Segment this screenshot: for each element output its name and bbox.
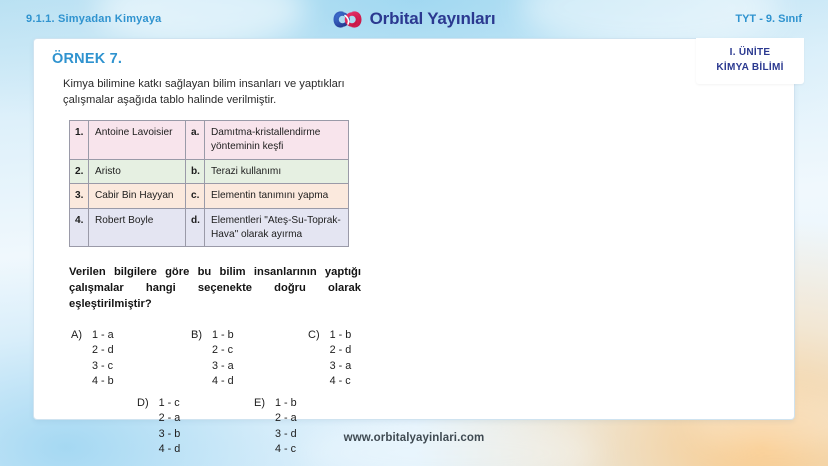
footer-website[interactable]: www.orbitalyayinlari.com	[0, 432, 828, 444]
answer-option-b-key: B)	[191, 328, 202, 344]
answer-option-e-pairs: 1 - b 2 - a 3 - d 4 - c	[275, 396, 297, 457]
table-cell-work: Terazi kullanımı	[205, 159, 349, 184]
answer-option-d-key: D)	[137, 396, 149, 412]
answer-option-e[interactable]: E) 1 - b 2 - a 3 - d 4 - c	[254, 396, 297, 457]
table-cell-number: 3.	[70, 184, 89, 209]
table-cell-work: Damıtma-kristallendirme yönteminin keşfi	[205, 121, 349, 159]
table-row: 3. Cabir Bin Hayyan c. Elementin tanımın…	[70, 184, 349, 209]
table-cell-name: Antoine Lavoisier	[89, 121, 186, 159]
table-cell-name: Robert Boyle	[89, 208, 186, 246]
table-cell-work: Elementleri "Ateş-Su-Toprak-Hava" olarak…	[205, 208, 349, 246]
page-header: 9.1.1. Simyadan Kimyaya	[0, 0, 828, 38]
table-row: 4. Robert Boyle d. Elementleri "Ateş-Su-…	[70, 208, 349, 246]
table-cell-name: Cabir Bin Hayyan	[89, 184, 186, 209]
answer-option-d[interactable]: D) 1 - c 2 - a 3 - b 4 - d	[137, 396, 180, 457]
brand-name: Orbital Yayınları	[370, 9, 496, 29]
orbital-loops-logo-icon	[333, 9, 363, 30]
answer-option-b[interactable]: B) 1 - b 2 - c 3 - a 4 - d	[191, 328, 234, 389]
table-cell-work: Elementin tanımını yapma	[205, 184, 349, 209]
answer-option-c[interactable]: C) 1 - b 2 - d 3 - a 4 - c	[308, 328, 351, 389]
table-cell-letter: d.	[186, 208, 205, 246]
question-text: Verilen bilgilere göre bu bilim insanlar…	[69, 265, 361, 313]
answer-option-c-key: C)	[308, 328, 320, 344]
header-level-label: TYT - 9. Sınıf	[735, 13, 802, 25]
answer-option-b-pairs: 1 - b 2 - c 3 - a 4 - d	[212, 328, 234, 389]
header-topic-label: 9.1.1. Simyadan Kimyaya	[26, 13, 161, 25]
matching-table: 1. Antoine Lavoisier a. Damıtma-kristall…	[69, 120, 349, 247]
answer-options-row-top: A) 1 - a 2 - d 3 - c 4 - b B) 1 - b 2 - …	[69, 328, 776, 386]
answer-option-a-pairs: 1 - a 2 - d 3 - c 4 - b	[92, 328, 114, 389]
slide-page: 9.1.1. Simyadan Kimyaya	[0, 0, 828, 466]
answer-options-row-bottom: D) 1 - c 2 - a 3 - b 4 - d E) 1 - b 2 - …	[69, 396, 776, 454]
table-cell-number: 2.	[70, 159, 89, 184]
example-intro-text: Kimya bilimine katkı sağlayan bilim insa…	[63, 76, 363, 108]
answer-option-d-pairs: 1 - c 2 - a 3 - b 4 - d	[159, 396, 181, 457]
unit-badge-line-1: I. ÜNİTE	[702, 46, 798, 61]
content-card: ÖRNEK 7. Kimya bilimine katkı sağlayan b…	[33, 38, 795, 420]
table-cell-letter: a.	[186, 121, 205, 159]
answer-option-c-pairs: 1 - b 2 - d 3 - a 4 - c	[330, 328, 352, 389]
example-title: ÖRNEK 7.	[52, 51, 776, 67]
table-row: 2. Aristo b. Terazi kullanımı	[70, 159, 349, 184]
answer-option-a[interactable]: A) 1 - a 2 - d 3 - c 4 - b	[71, 328, 114, 389]
table-cell-number: 4.	[70, 208, 89, 246]
answer-option-e-key: E)	[254, 396, 265, 412]
table-cell-letter: c.	[186, 184, 205, 209]
unit-badge-line-2: KİMYA BİLİMİ	[702, 61, 798, 76]
table-cell-number: 1.	[70, 121, 89, 159]
unit-badge: I. ÜNİTE KİMYA BİLİMİ	[696, 38, 804, 84]
answer-option-a-key: A)	[71, 328, 82, 344]
table-cell-name: Aristo	[89, 159, 186, 184]
table-row: 1. Antoine Lavoisier a. Damıtma-kristall…	[70, 121, 349, 159]
table-cell-letter: b.	[186, 159, 205, 184]
